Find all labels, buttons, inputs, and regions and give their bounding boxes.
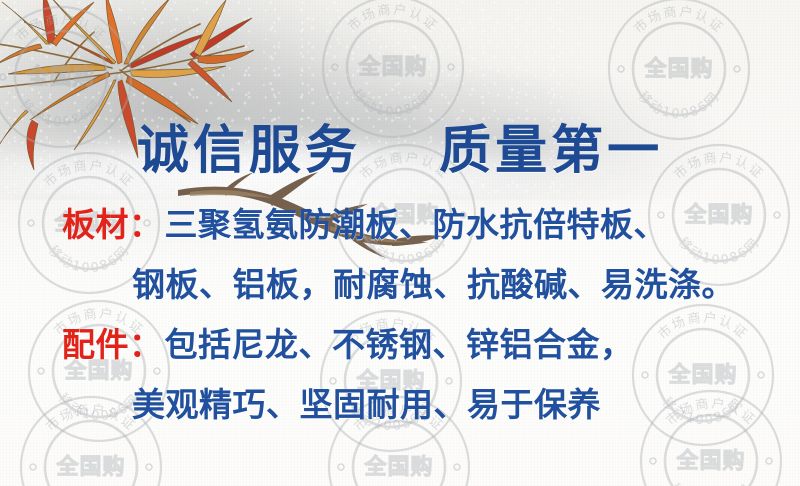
spec-text-parts-1: 包括尼龙、不锈钢、锌铝合金， (165, 318, 634, 366)
poster-canvas: 市场商户认证移动10086网全国购市场商户认证移动10086网全国购市场商户认证… (0, 0, 800, 486)
headline-left: 诚信服务 (137, 120, 361, 181)
spec-line-parts-1: 配件： 包括尼龙、不锈钢、锌铝合金， (0, 312, 800, 372)
spec-label-boards: 板材： (62, 198, 163, 246)
body-block: 板材： 三聚氢氨防潮板、防水抗倍特板、 钢板、铝板，耐腐蚀、抗酸碱、易洗涤。 配… (0, 192, 800, 432)
spec-label-parts: 配件： (62, 318, 163, 366)
spec-line-boards-1: 板材： 三聚氢氨防潮板、防水抗倍特板、 (0, 192, 800, 252)
headline: 诚信服务 质量第一 (0, 108, 800, 183)
spec-line-boards-2: 钢板、铝板，耐腐蚀、抗酸碱、易洗涤。 (0, 252, 800, 312)
spec-text-boards-1: 三聚氢氨防潮板、防水抗倍特板、 (165, 198, 668, 246)
spec-line-parts-2: 美观精巧、坚固耐用、易于保养 (0, 372, 800, 432)
spec-text-parts-2: 美观精巧、坚固耐用、易于保养 (132, 378, 601, 426)
spec-text-boards-2: 钢板、铝板，耐腐蚀、抗酸碱、易洗涤。 (132, 258, 735, 306)
headline-right: 质量第一 (439, 120, 663, 181)
